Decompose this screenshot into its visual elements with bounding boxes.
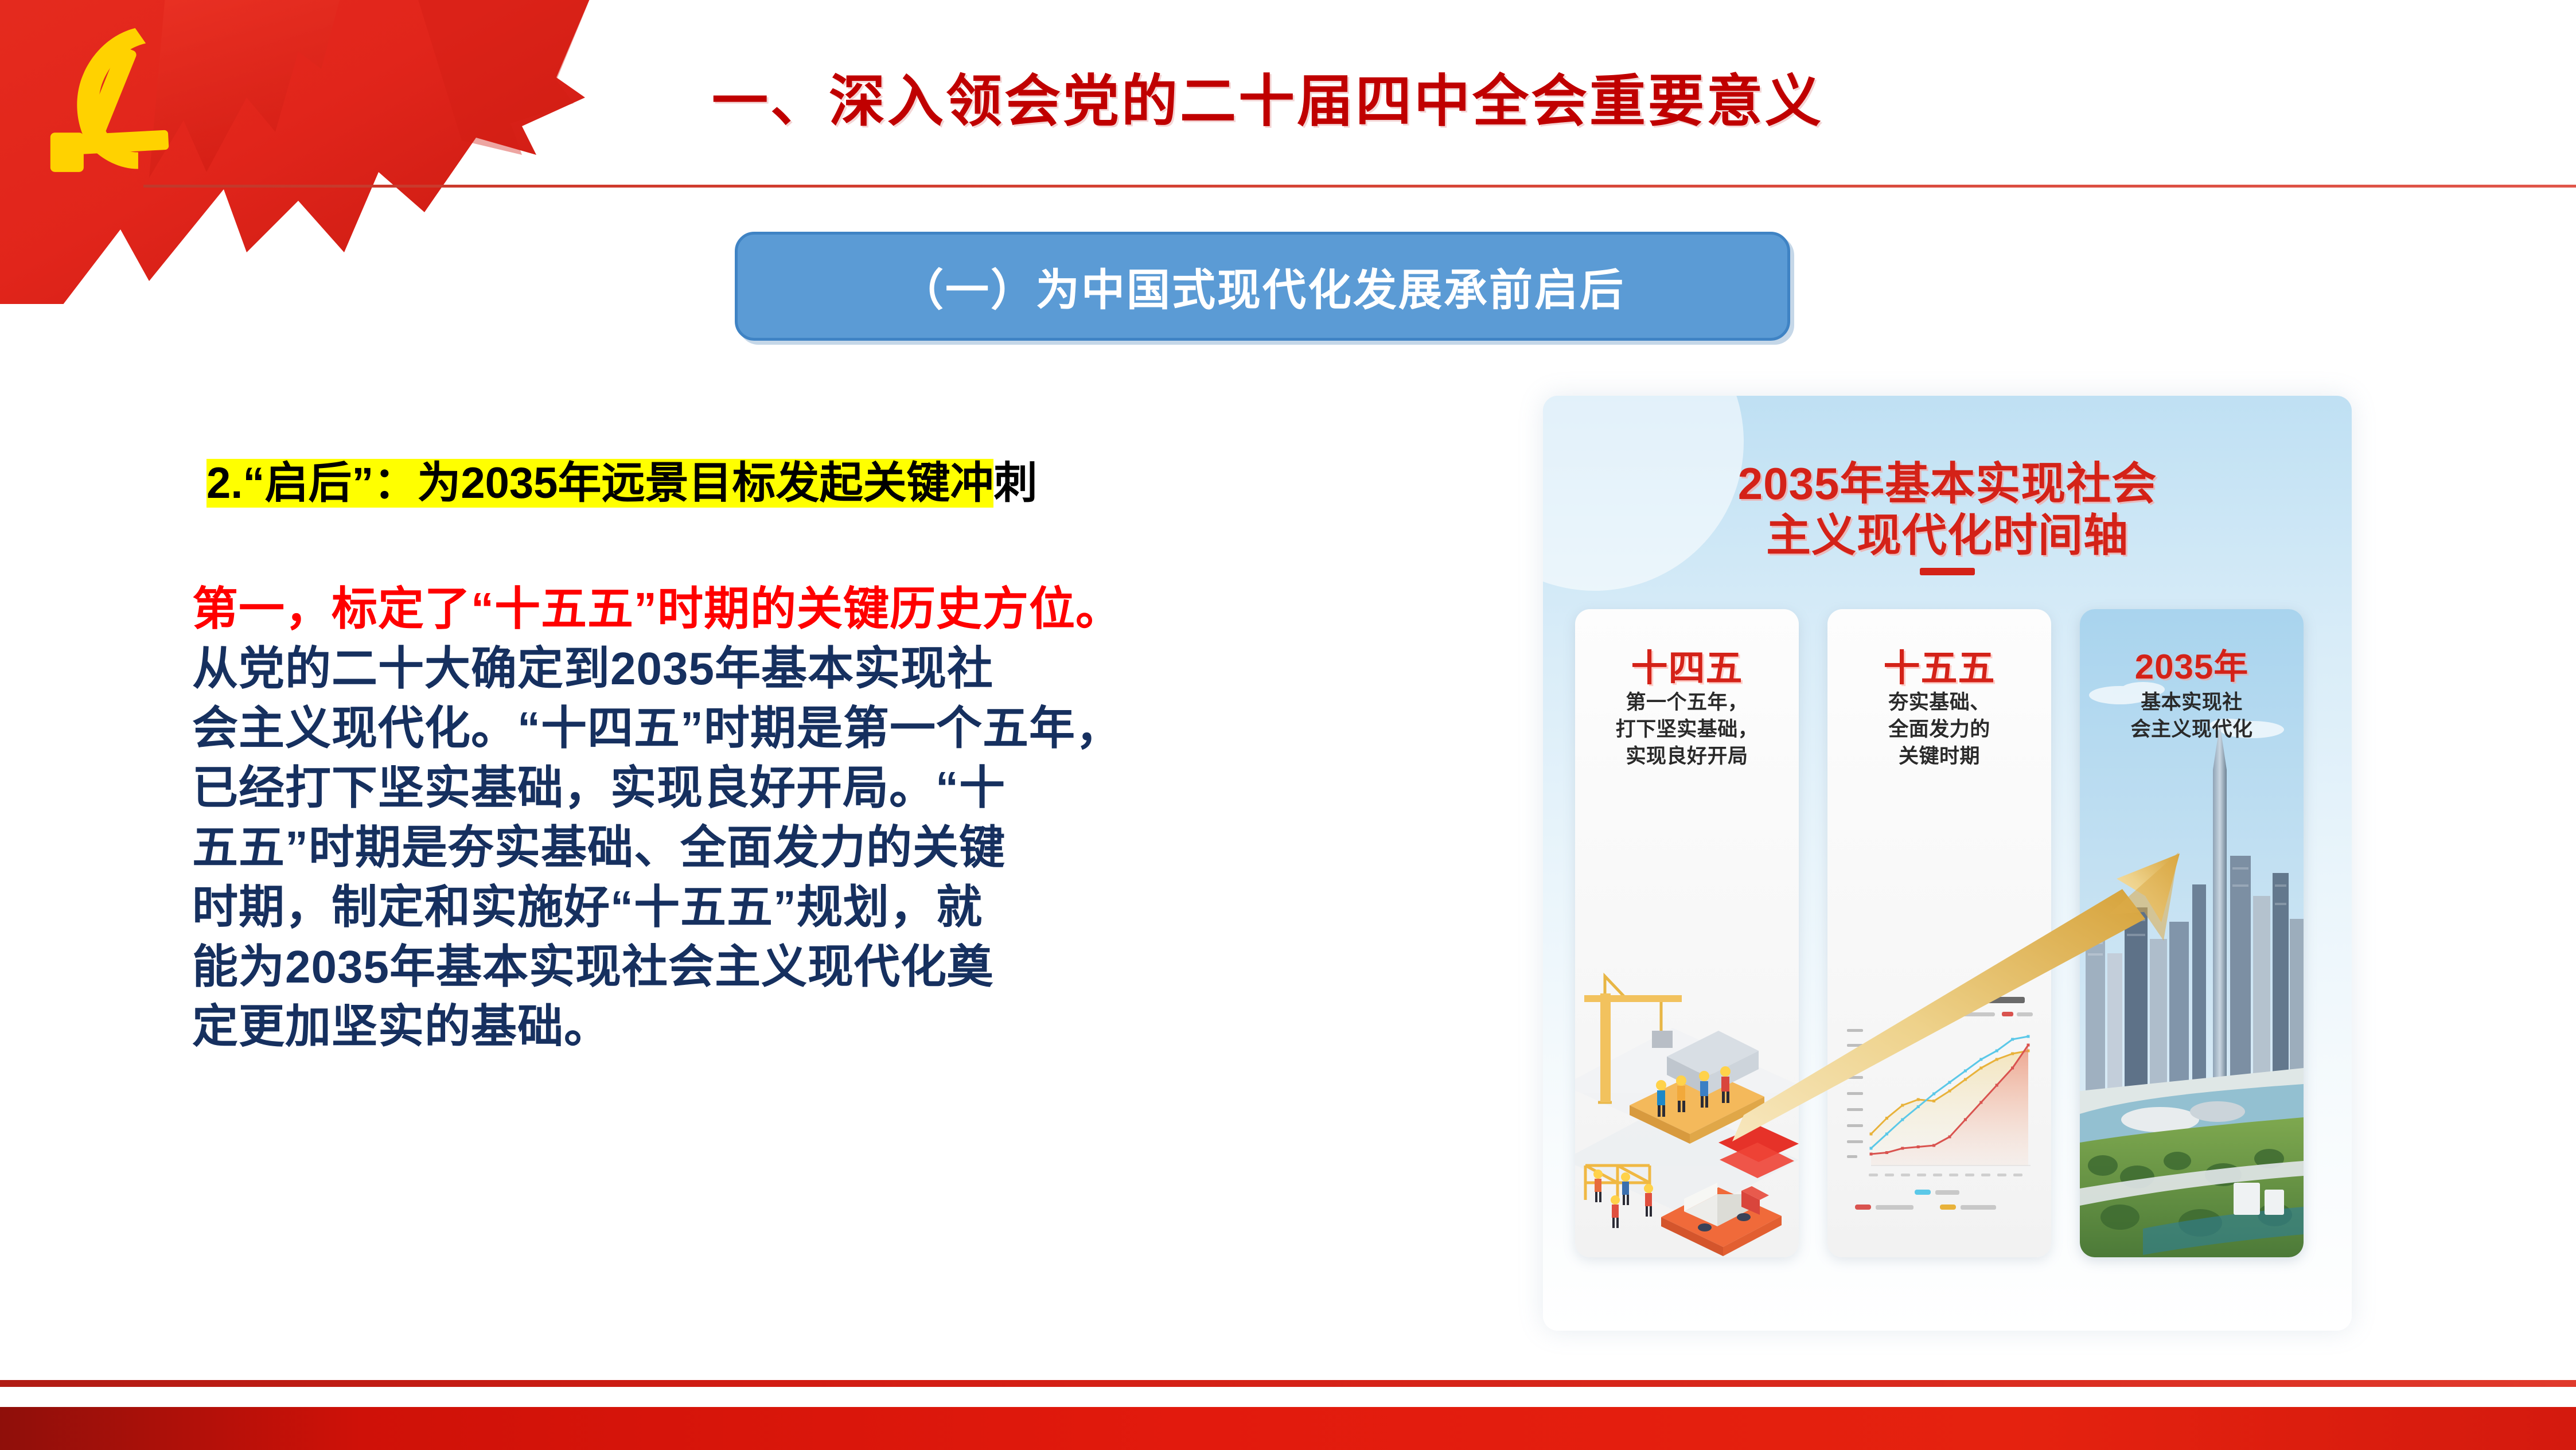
section-banner-label: （一）为中国式现代化发展承前启后 [900, 255, 1625, 318]
footer-bar [0, 1407, 2576, 1450]
panel-desc-line: 关键时期 [1827, 743, 2051, 770]
sub-heading-tail: 刺 [993, 459, 1037, 508]
page-title: 一、深入领会党的二十届四中全会重要意义 [608, 72, 1927, 131]
body-paragraph: 第一，标定了“十五五”时期的关键历史方位。 从党的二十大确定到2035年基本实现… [192, 579, 1511, 1057]
construction-site-illustration [1575, 913, 1799, 1257]
timeline-infographic: 2035年基本实现社会 主义现代化时间轴 十四五 第一个五年， 打下坚实基础， … [1543, 396, 2352, 1331]
panel-desc-line: 实现良好开局 [1575, 743, 1799, 770]
body-line: 已经打下坚实基础，实现良好开局。“十 [192, 758, 1511, 818]
panel-label: 十五五 [1827, 639, 2051, 692]
panel-description: 第一个五年， 打下坚实基础， 实现良好开局 [1575, 689, 1799, 770]
infographic-title-line1: 2035年基本实现社会 [1543, 458, 2352, 509]
hammer-sickle-emblem [50, 28, 169, 172]
panel-description: 夯实基础、 全面发力的 关键时期 [1827, 689, 2051, 770]
header-divider [143, 185, 2576, 188]
timeline-panel-15th: 十五五 夯实基础、 全面发力的 关键时期 [1827, 609, 2051, 1257]
body-line: 能为2035年基本实现社会主义现代化奠 [192, 937, 1511, 997]
body-line: 从党的二十大确定到2035年基本实现社 [192, 639, 1511, 699]
slide-root: 一、深入领会党的二十届四中全会重要意义 （一）为中国式现代化发展承前启后 2.“… [0, 0, 2576, 1450]
section-banner: （一）为中国式现代化发展承前启后 [735, 232, 1790, 341]
footer-thin-line [0, 1380, 2576, 1387]
party-flag-decoration [0, 0, 597, 304]
panel-description: 基本实现社 会主义现代化 [2080, 689, 2304, 743]
infographic-title: 2035年基本实现社会 主义现代化时间轴 [1543, 458, 2352, 562]
infographic-title-dash [1920, 568, 1975, 575]
sub-heading: 2.“启后”：为2035年远景目标发起关键冲刺 [206, 447, 1037, 510]
body-line: 定更加坚实的基础。 [192, 997, 1511, 1057]
panel-label: 2035年 [2080, 639, 2304, 689]
panel-desc-line: 基本实现社 [2080, 689, 2304, 716]
body-line: 五五”时期是夯实基础、全面发力的关键 [192, 818, 1511, 878]
body-line: 第一，标定了“十五五”时期的关键历史方位。 [192, 579, 1511, 639]
panel-desc-line: 夯实基础、 [1827, 689, 2051, 716]
panel-desc-line: 会主义现代化 [2080, 716, 2304, 743]
body-line: 时期，制定和实施好“十五五”规划，就 [192, 878, 1511, 937]
body-line: 会主义现代化。“十四五”时期是第一个五年， [192, 699, 1511, 758]
infographic-title-line2: 主义现代化时间轴 [1543, 509, 2352, 561]
sub-heading-highlight: 2.“启后”：为2035年远景目标发起关键冲 [206, 459, 993, 508]
timeline-panel-14th: 十四五 第一个五年， 打下坚实基础， 实现良好开局 [1575, 609, 1799, 1257]
panel-label: 十四五 [1575, 639, 1799, 692]
panel-desc-line: 打下坚实基础， [1575, 716, 1799, 743]
timeline-panels: 十四五 第一个五年， 打下坚实基础， 实现良好开局 [1575, 609, 2321, 1292]
panel-desc-line: 全面发力的 [1827, 716, 2051, 743]
panel-desc-line: 第一个五年， [1575, 689, 1799, 716]
timeline-panel-2035: 2035年 基本实现社 会主义现代化 [2080, 609, 2304, 1257]
growth-line-chart [1835, 976, 2043, 1223]
